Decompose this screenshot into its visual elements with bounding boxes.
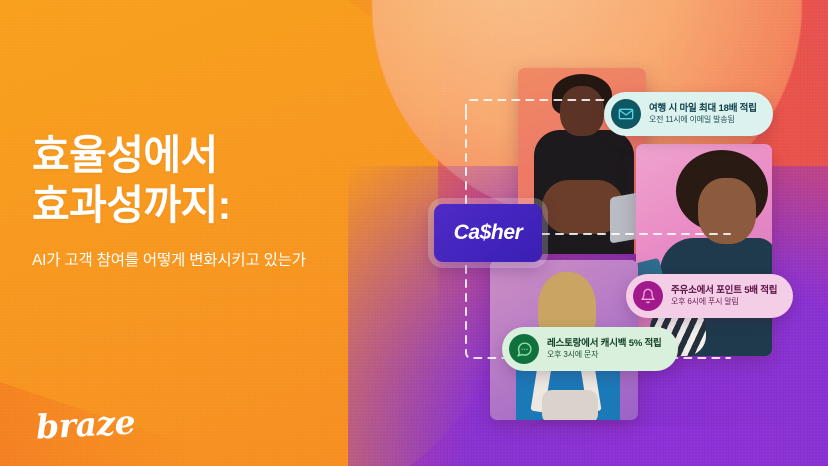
envelope-icon	[611, 99, 641, 129]
notification-title: 레스토랑에서 캐시백 5% 적립	[547, 338, 662, 350]
braze-logo: braze	[35, 402, 136, 446]
notification-subtitle: 오전 11시에 이메일 발송됨	[649, 115, 741, 125]
notification-subtitle: 오후 6시에 푸시 알림	[671, 297, 763, 307]
journey-diagram: Ca$her 여행 시 마일 최대 18배 적립 오전 11시에 이메일 발송됨	[430, 52, 802, 412]
page-subtitle: AI가 고객 참여를 어떻게 변화시키고 있는가	[32, 250, 412, 272]
person-illustration-2	[636, 144, 772, 356]
bell-icon	[633, 281, 663, 311]
notification-text-push: 주유소에서 포인트 5배 적립 오후 6시에 푸시 알림	[671, 285, 777, 307]
chat-bubble-icon	[509, 334, 539, 364]
photo-card-customer-2	[636, 144, 772, 356]
notification-text-sms: 레스토랑에서 캐시백 5% 적립 오후 3시에 문자	[547, 338, 662, 360]
notification-title: 주유소에서 포인트 5배 적립	[671, 285, 777, 297]
notification-text-email: 여행 시 마일 최대 18배 적립 오전 11시에 이메일 발송됨	[649, 103, 757, 125]
notification-card-email[interactable]: 여행 시 마일 최대 18배 적립 오전 11시에 이메일 발송됨	[604, 92, 773, 136]
notification-card-push[interactable]: 주유소에서 포인트 5배 적립 오후 6시에 푸시 알림	[626, 274, 793, 318]
notification-title: 여행 시 마일 최대 18배 적립	[649, 103, 757, 115]
notification-subtitle: 오후 3시에 문자	[547, 350, 639, 360]
hero-text-block: 효율성에서 효과성까지: AI가 고객 참여를 어떻게 변화시키고 있는가	[32, 130, 412, 273]
page-title: 효율성에서 효과성까지:	[32, 130, 412, 230]
slide-canvas: 효율성에서 효과성까지: AI가 고객 참여를 어떻게 변화시키고 있는가 br…	[0, 0, 828, 466]
casher-logo-text: Ca$her	[454, 221, 523, 245]
casher-logo-card: Ca$her	[434, 204, 542, 262]
notification-card-sms[interactable]: 레스토랑에서 캐시백 5% 적립 오후 3시에 문자	[502, 327, 678, 371]
